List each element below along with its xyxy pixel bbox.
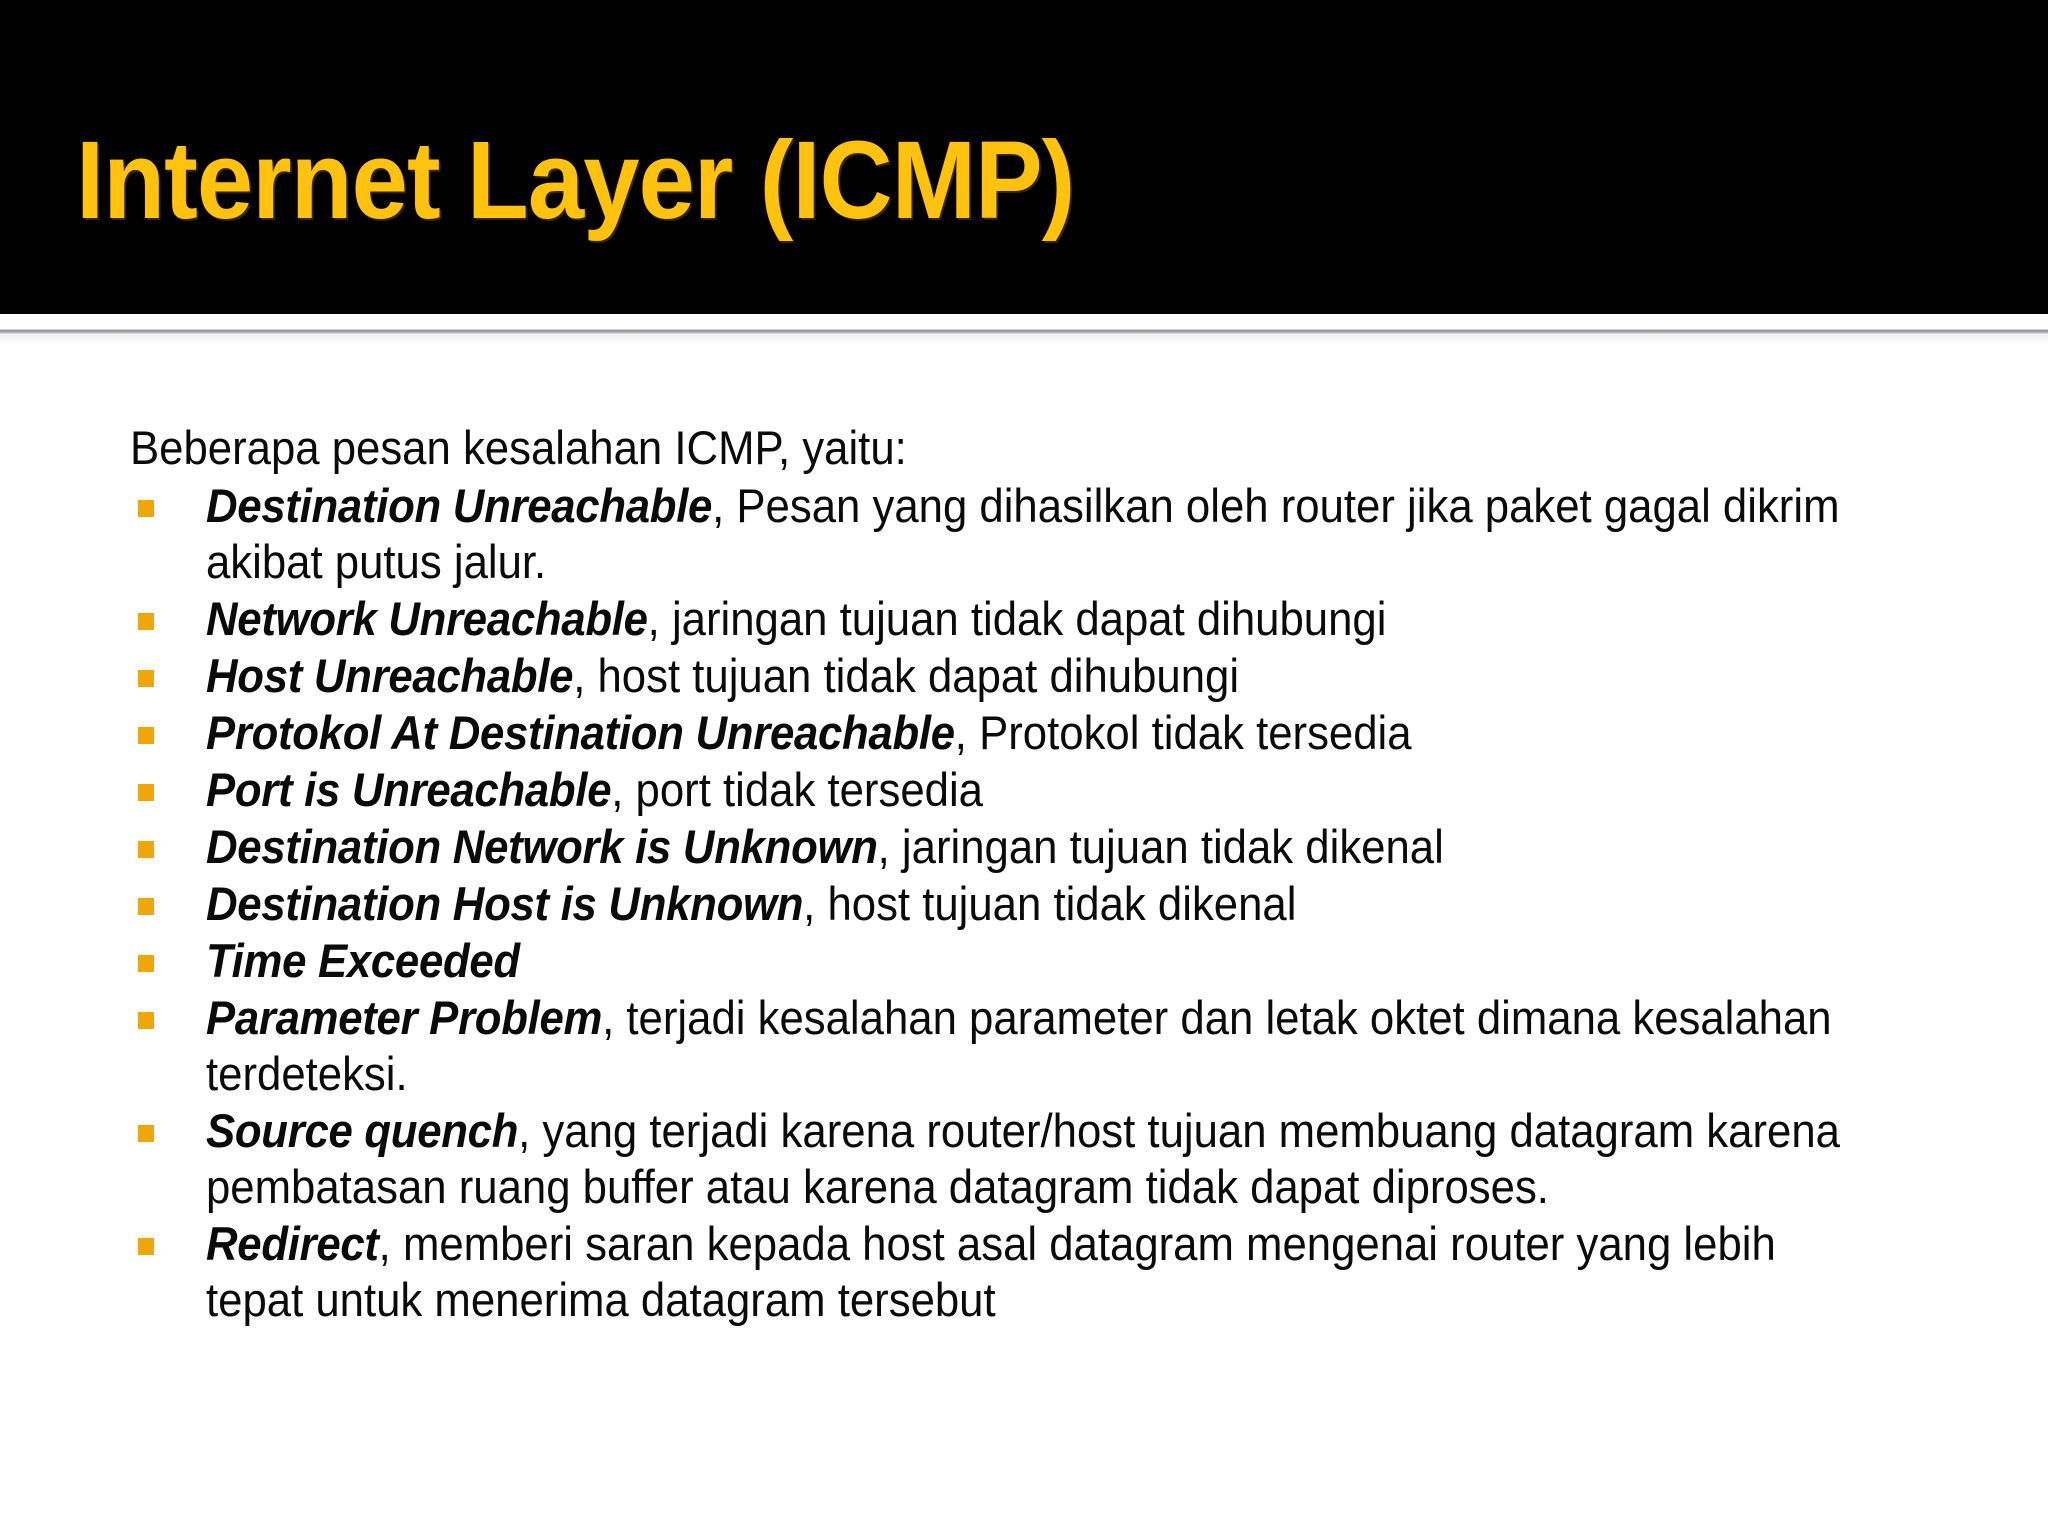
square-bullet-icon (138, 841, 154, 858)
icmp-message-list: Destination Unreachable, Pesan yang diha… (130, 478, 1990, 1328)
list-item-text: Host Unreachable, host tujuan tidak dapa… (206, 648, 1865, 704)
page-title: Internet Layer (ICMP) (76, 122, 1074, 241)
square-bullet-icon (138, 784, 154, 801)
square-bullet-icon (138, 898, 154, 915)
square-bullet-icon (138, 500, 154, 517)
list-item-text: Parameter Problem, terjadi kesalahan par… (206, 990, 1865, 1102)
term-label: Host Unreachable (206, 649, 573, 702)
list-item: Destination Network is Unknown, jaringan… (130, 819, 1990, 875)
list-item: Time Exceeded (130, 933, 1990, 989)
term-label: Time Exceeded (206, 934, 520, 987)
term-description: , memberi saran kepada host asal datagra… (206, 1217, 1776, 1326)
term-label: Destination Unreachable (206, 479, 712, 532)
list-item: Destination Host is Unknown, host tujuan… (130, 876, 1990, 932)
list-item: Parameter Problem, terjadi kesalahan par… (130, 990, 1990, 1102)
list-item: Protokol At Destination Unreachable, Pro… (130, 705, 1990, 761)
list-item-text: Port is Unreachable, port tidak tersedia (206, 762, 1865, 818)
list-item-text: Source quench, yang terjadi karena route… (206, 1103, 1865, 1215)
term-label: Redirect (206, 1217, 379, 1270)
term-description: , jaringan tujuan tidak dapat dihubungi (648, 592, 1387, 645)
list-item: Network Unreachable, jaringan tujuan tid… (130, 591, 1990, 647)
band-gap (0, 314, 2048, 330)
square-bullet-icon (138, 613, 154, 630)
term-description: , host tujuan tidak dikenal (803, 877, 1296, 930)
square-bullet-icon (138, 727, 154, 744)
term-description: , port tidak tersedia (611, 763, 983, 816)
list-item-text: Destination Network is Unknown, jaringan… (206, 819, 1865, 875)
term-label: Network Unreachable (206, 592, 648, 645)
title-band: Internet Layer (ICMP) (0, 0, 2048, 314)
term-label: Parameter Problem (206, 991, 602, 1044)
list-item-text: Destination Host is Unknown, host tujuan… (206, 876, 1865, 932)
square-bullet-icon (138, 1125, 154, 1142)
list-item-text: Time Exceeded (206, 933, 1865, 989)
list-item-text: Network Unreachable, jaringan tujuan tid… (206, 591, 1865, 647)
term-description: , jaringan tujuan tidak dikenal (878, 820, 1444, 873)
term-label: Source quench (206, 1104, 518, 1157)
square-bullet-icon (138, 670, 154, 687)
square-bullet-icon (138, 1238, 154, 1255)
header-divider-shadow (0, 334, 2048, 344)
term-label: Protokol At Destination Unreachable (206, 706, 955, 759)
term-label: Destination Host is Unknown (206, 877, 803, 930)
slide-body: Beberapa pesan kesalahan ICMP, yaitu: De… (0, 344, 2048, 1536)
list-item: Redirect, memberi saran kepada host asal… (130, 1216, 1990, 1328)
list-item-text: Redirect, memberi saran kepada host asal… (206, 1216, 1865, 1328)
term-label: Destination Network is Unknown (206, 820, 878, 873)
term-description: , Protokol tidak tersedia (955, 706, 1412, 759)
term-description: , host tujuan tidak dapat dihubungi (573, 649, 1239, 702)
term-label: Port is Unreachable (206, 763, 611, 816)
list-item: Host Unreachable, host tujuan tidak dapa… (130, 648, 1990, 704)
square-bullet-icon (138, 955, 154, 972)
list-item-text: Protokol At Destination Unreachable, Pro… (206, 705, 1865, 761)
list-item: Destination Unreachable, Pesan yang diha… (130, 478, 1990, 590)
content-block: Beberapa pesan kesalahan ICMP, yaitu: De… (130, 420, 1990, 1329)
list-item: Source quench, yang terjadi karena route… (130, 1103, 1990, 1215)
square-bullet-icon (138, 1012, 154, 1029)
list-item: Port is Unreachable, port tidak tersedia (130, 762, 1990, 818)
list-item-text: Destination Unreachable, Pesan yang diha… (206, 478, 1865, 590)
intro-text: Beberapa pesan kesalahan ICMP, yaitu: (130, 420, 1860, 476)
